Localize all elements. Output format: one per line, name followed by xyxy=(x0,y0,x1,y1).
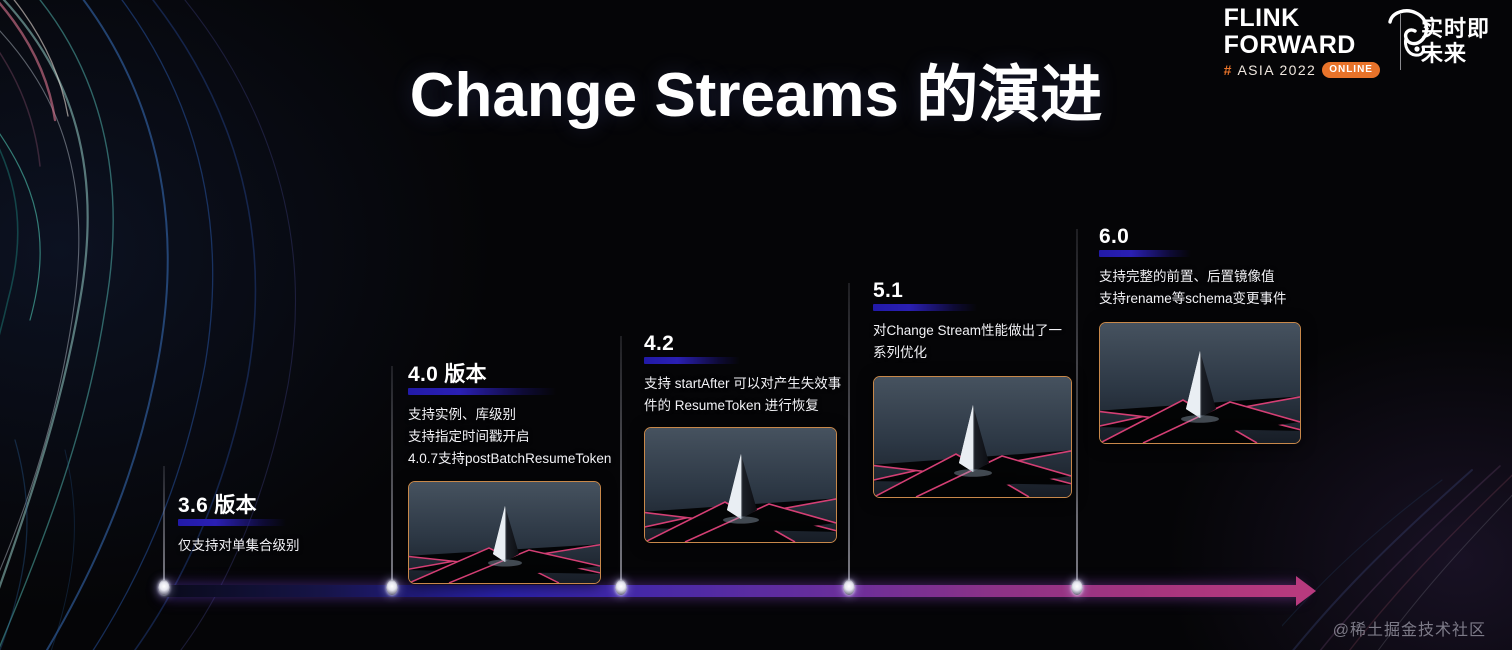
version-underline xyxy=(644,357,740,364)
version-description: 支持完整的前置、后置镜像值 支持rename等schema变更事件 xyxy=(1099,266,1319,310)
timeline-stem xyxy=(392,366,393,584)
timeline-stem xyxy=(164,466,165,584)
version-thumbnail xyxy=(1099,322,1301,444)
version-label: 6.0 xyxy=(1099,225,1319,248)
timeline-dot xyxy=(159,580,170,595)
page-title: Change Streams 的演进 xyxy=(0,44,1512,134)
logo-word-flink: FLINK xyxy=(1224,6,1300,31)
presentation-slide: FLINK FORWARD # ASIA 2022 ONLINE 实时即 未来 … xyxy=(0,0,1512,650)
timeline-dot xyxy=(1072,580,1083,595)
version-underline xyxy=(873,304,977,311)
version-thumbnail xyxy=(873,376,1072,498)
version-label: 5.1 xyxy=(873,279,1073,302)
timeline-axis xyxy=(162,585,1302,597)
version-label: 3.6 版本 xyxy=(178,494,378,517)
timeline-arrow-icon xyxy=(1296,576,1316,606)
timeline-stem xyxy=(1077,229,1078,584)
version-description: 仅支持对单集合级别 xyxy=(178,535,378,557)
timeline-item-2: 4.2 支持 startAfter 可以对产生失效事 件的 ResumeToke… xyxy=(644,332,850,543)
version-underline xyxy=(408,388,556,395)
version-thumbnail xyxy=(644,427,837,543)
version-label: 4.0 版本 xyxy=(408,363,623,386)
version-description: 支持 startAfter 可以对产生失效事 件的 ResumeToken 进行… xyxy=(644,373,850,417)
timeline-dot xyxy=(387,580,398,595)
timeline-item-3: 5.1 对Change Stream性能做出了一 系列优化 xyxy=(873,279,1073,498)
version-description: 支持实例、库级别 支持指定时间戳开启 4.0.7支持postBatchResum… xyxy=(408,404,623,470)
watermark: @稀土掘金技术社区 xyxy=(1333,616,1486,640)
version-underline xyxy=(1099,250,1191,257)
version-label: 4.2 xyxy=(644,332,850,355)
timeline-item-1: 4.0 版本 支持实例、库级别 支持指定时间戳开启 4.0.7支持postBat… xyxy=(408,363,623,584)
timeline-item-4: 6.0 支持完整的前置、后置镜像值 支持rename等schema变更事件 xyxy=(1099,225,1319,444)
version-underline xyxy=(178,519,286,526)
timeline-item-0: 3.6 版本 仅支持对单集合级别 xyxy=(178,494,378,557)
version-description: 对Change Stream性能做出了一 系列优化 xyxy=(873,320,1073,364)
version-thumbnail xyxy=(408,481,601,584)
timeline-dot xyxy=(844,580,855,595)
